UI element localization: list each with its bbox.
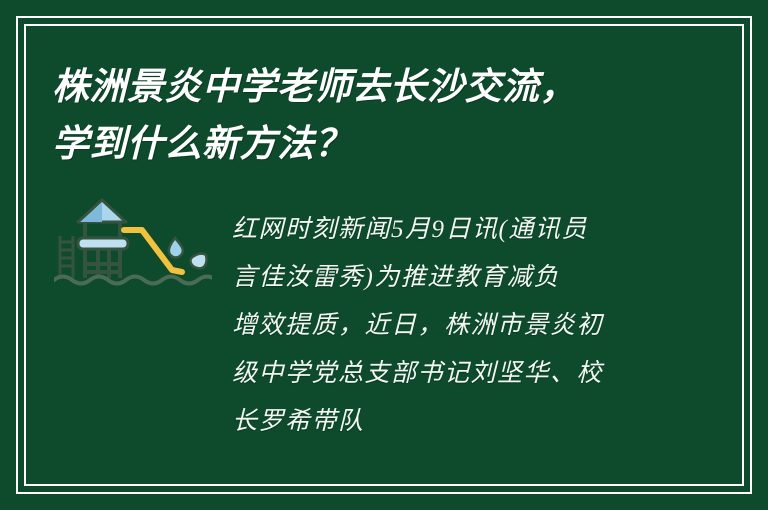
- article-body: 红网时刻新闻5月9日讯(通讯员 言佳汝雷秀)为推进教育减负 增效提质，近日，株洲…: [232, 206, 652, 446]
- playground-water-slide-illustration: [54, 198, 212, 293]
- page-title: 株洲景炎中学老师去长沙交流， 学到什么新方法？: [52, 58, 692, 172]
- body-line-5: 长罗希带队: [232, 398, 652, 446]
- water-splash-icon: [169, 238, 207, 268]
- body-line-2: 言佳汝雷秀)为推进教育减负: [232, 254, 652, 302]
- body-line-3: 增效提质，近日，株洲市景炎初: [232, 302, 652, 350]
- ladder-icon: [60, 236, 73, 278]
- news-card: 株洲景炎中学老师去长沙交流， 学到什么新方法？: [0, 0, 768, 510]
- body-line-4: 级中学党总支部书记刘坚华、校: [232, 350, 652, 398]
- headline-line-2: 学到什么新方法？: [52, 115, 692, 172]
- roof-icon: [78, 200, 126, 222]
- headline-line-1: 株洲景炎中学老师去长沙交流，: [52, 58, 692, 115]
- platform-icon: [78, 238, 128, 249]
- body-line-1: 红网时刻新闻5月9日讯(通讯员: [232, 206, 652, 254]
- water-line-icon: [54, 277, 212, 284]
